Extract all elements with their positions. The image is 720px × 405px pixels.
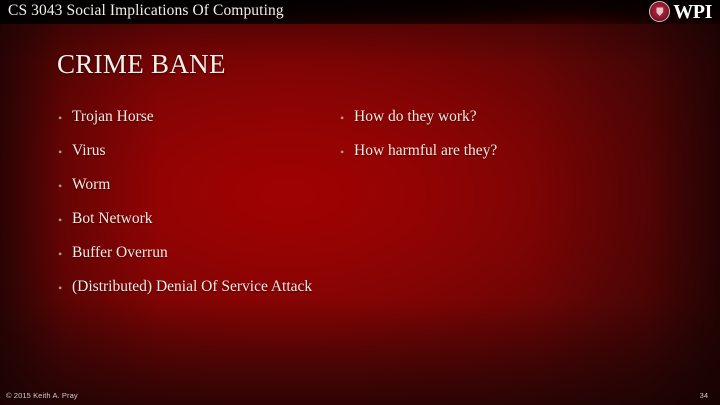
bullet-marker-icon: • xyxy=(58,107,72,128)
slide-title: CRIME BANE xyxy=(57,48,226,80)
list-item: • Worm xyxy=(58,175,320,196)
bullet-marker-icon: • xyxy=(58,141,72,162)
list-item-label: Virus xyxy=(72,141,106,161)
list-item-label: Bot Network xyxy=(72,209,153,229)
list-item: • How do they work? xyxy=(340,107,650,128)
list-item-label: Trojan Horse xyxy=(72,107,154,127)
copyright-notice: © 2015 Keith A. Pray xyxy=(6,391,78,400)
list-item-label: Worm xyxy=(72,175,110,195)
list-item-label: How do they work? xyxy=(354,107,477,127)
list-item-label: How harmful are they? xyxy=(354,141,497,161)
bullet-marker-icon: • xyxy=(58,243,72,264)
bullet-marker-icon: • xyxy=(340,107,354,128)
slide-header-bar: CS 3043 Social Implications Of Computing… xyxy=(0,0,720,24)
bullet-marker-icon: • xyxy=(58,277,72,298)
bullet-marker-icon: • xyxy=(58,209,72,230)
list-item-label: (Distributed) Denial Of Service Attack xyxy=(72,277,312,297)
list-item: • Trojan Horse xyxy=(58,107,320,128)
slide-number: 34 xyxy=(700,391,708,400)
presentation-slide: CS 3043 Social Implications Of Computing… xyxy=(0,0,720,405)
course-title: CS 3043 Social Implications Of Computing xyxy=(8,2,284,20)
list-item: • Virus xyxy=(58,141,320,162)
list-item: • How harmful are they? xyxy=(340,141,650,162)
bullet-column-left: • Trojan Horse • Virus • Worm • Bot Netw… xyxy=(0,107,320,311)
list-item: • Bot Network xyxy=(58,209,320,230)
bullet-marker-icon: • xyxy=(58,175,72,196)
slide-content-columns: • Trojan Horse • Virus • Worm • Bot Netw… xyxy=(0,107,720,311)
wpi-brand-logo: WPI xyxy=(649,1,712,22)
bullet-marker-icon: • xyxy=(340,141,354,162)
wpi-wordmark: WPI xyxy=(673,2,712,22)
bullet-column-right: • How do they work? • How harmful are th… xyxy=(320,107,650,311)
list-item-label: Buffer Overrun xyxy=(72,243,168,263)
list-item: • Buffer Overrun xyxy=(58,243,320,264)
wpi-seal-icon xyxy=(649,1,670,22)
list-item: • (Distributed) Denial Of Service Attack xyxy=(58,277,320,298)
